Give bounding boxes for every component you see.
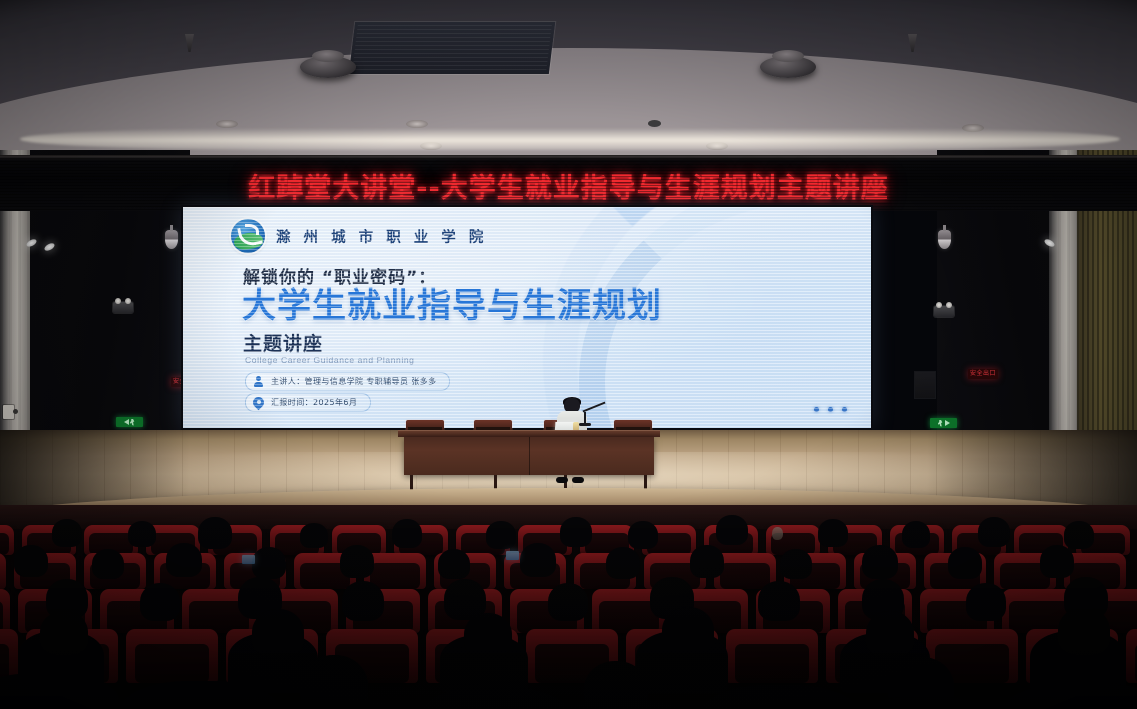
audience-head — [128, 521, 156, 547]
ceiling-cove-light — [20, 128, 1120, 150]
auditorium-seat — [0, 589, 10, 633]
mic-base — [579, 423, 591, 426]
lit-audience-face — [772, 527, 783, 540]
shoe — [572, 477, 584, 483]
ceiling-speaker — [760, 56, 816, 78]
audience-head — [140, 583, 180, 621]
audience-head — [1064, 521, 1094, 549]
dome-camera-icon — [165, 230, 178, 249]
person-icon — [253, 376, 264, 387]
exit-arrow-right-icon — [945, 420, 950, 426]
wall-switch-plate[interactable] — [3, 405, 14, 419]
slide-subtitle: 主题讲座 — [243, 329, 323, 356]
audience-head — [780, 549, 812, 579]
shoe — [556, 477, 568, 483]
running-person-icon — [938, 420, 944, 427]
emergency-light-icon — [113, 302, 133, 313]
auditorium-photo: 安全出口 安全出口 红踔堂大讲堂--大学生就业指导与生涯规划主题讲座 — [0, 0, 1137, 709]
audience-head — [978, 517, 1010, 547]
audience-seating-area — [0, 505, 1137, 709]
audience-shoulders — [850, 697, 1000, 709]
audience-head — [948, 547, 982, 579]
led-banner: 红踔堂大讲堂--大学生就业指导与生涯规划主题讲座 — [0, 155, 1137, 211]
audience-shoulders — [1000, 683, 1137, 709]
page-dot — [828, 407, 833, 412]
exit-red-sign-right: 安全出口 — [968, 369, 998, 379]
audience-head — [464, 613, 512, 657]
slide-title: 大学生就业指导与生涯规划 — [242, 289, 662, 323]
auditorium-seat — [0, 525, 14, 555]
auditorium-seat — [126, 629, 218, 683]
audience-head — [342, 581, 384, 621]
presenter-table — [398, 420, 660, 492]
audience-head — [1040, 545, 1074, 578]
audience-head — [690, 545, 724, 578]
audience-head — [40, 611, 88, 655]
slide-time-text: 汇报时间：2025年6月 — [271, 397, 357, 408]
auditorium-seat — [1126, 629, 1137, 683]
page-dot — [814, 407, 819, 412]
running-person-icon — [130, 419, 136, 426]
audience-shoulders — [262, 699, 412, 709]
table-top — [398, 430, 660, 437]
audience-head — [198, 517, 232, 549]
dome-camera-icon — [938, 230, 951, 249]
page-dot — [842, 407, 847, 412]
slide-page-dots — [814, 407, 847, 412]
auditorium-seat — [0, 553, 6, 589]
ceiling-speaker — [300, 56, 356, 78]
audience-head — [392, 519, 422, 548]
table-front-panel — [404, 437, 654, 475]
location-pin-icon — [253, 397, 264, 409]
slide-speaker-text: 主讲人：管理与信息学院 专职辅导员 张多多 — [271, 376, 436, 387]
audience-head — [52, 519, 82, 547]
institution-name: 滁 州 城 市 职 业 学 院 — [276, 226, 487, 247]
audience-head — [662, 607, 714, 655]
ceiling-sensor — [648, 120, 661, 127]
projection-screen-bezel: 滁 州 城 市 职 业 学 院 解锁你的 “职业密码”： 大学生就业指导与生涯规… — [181, 205, 873, 430]
ceiling-downlight — [216, 120, 238, 128]
audience-head — [560, 517, 592, 547]
audience-shoulders — [548, 701, 698, 709]
slide-speaker-pill: 主讲人：管理与信息学院 专职辅导员 张多多 — [245, 372, 450, 391]
audience-head — [902, 521, 930, 548]
audience-head — [252, 547, 286, 579]
audience-head — [300, 523, 328, 548]
presenter-shoes — [556, 477, 586, 483]
ceiling-air-vent — [349, 22, 555, 74]
audience-head — [866, 611, 914, 657]
audience-head — [862, 545, 898, 579]
green-exit-sign-left — [116, 417, 143, 427]
auditorium-seat — [726, 629, 818, 683]
green-exit-sign-right — [930, 418, 957, 428]
audience-head — [520, 543, 556, 577]
gooseneck-microphone — [582, 406, 606, 424]
ceiling — [0, 0, 1137, 160]
audience-head — [438, 549, 470, 579]
audience-head — [966, 583, 1006, 621]
led-banner-text: 红踔堂大讲堂--大学生就业指导与生涯规划主题讲座 — [0, 166, 1137, 205]
exit-arrow-left-icon — [124, 419, 129, 425]
slide-institution-header: 滁 州 城 市 职 业 学 院 — [231, 219, 487, 253]
phone-screen-glow — [242, 555, 255, 564]
audience-head — [628, 521, 658, 549]
audience-head — [548, 583, 588, 621]
audience-head — [166, 543, 202, 577]
audience-head — [758, 581, 800, 621]
audience-head — [716, 515, 748, 545]
audience-head — [606, 547, 640, 579]
audience-head — [340, 545, 374, 578]
emergency-light-icon — [934, 306, 954, 317]
slide-english-subtitle: College Career Guidance and Planning — [245, 355, 415, 365]
audience-head — [1058, 607, 1110, 655]
presentation-slide: 滁 州 城 市 职 业 学 院 解锁你的 “职业密码”： 大学生就业指导与生涯规… — [183, 207, 871, 428]
ceiling-downlight — [406, 120, 428, 128]
audience-head — [92, 549, 124, 579]
slide-kicker: 解锁你的 “职业密码”： — [243, 263, 436, 288]
audience-head — [818, 519, 848, 547]
college-logo-icon — [231, 219, 265, 253]
wall-access-panel — [915, 372, 935, 398]
audience-head — [252, 609, 304, 657]
audience-head — [14, 545, 48, 577]
slide-time-pill: 汇报时间：2025年6月 — [245, 393, 371, 412]
phone-screen-glow — [506, 551, 519, 560]
audience-head — [486, 521, 516, 549]
